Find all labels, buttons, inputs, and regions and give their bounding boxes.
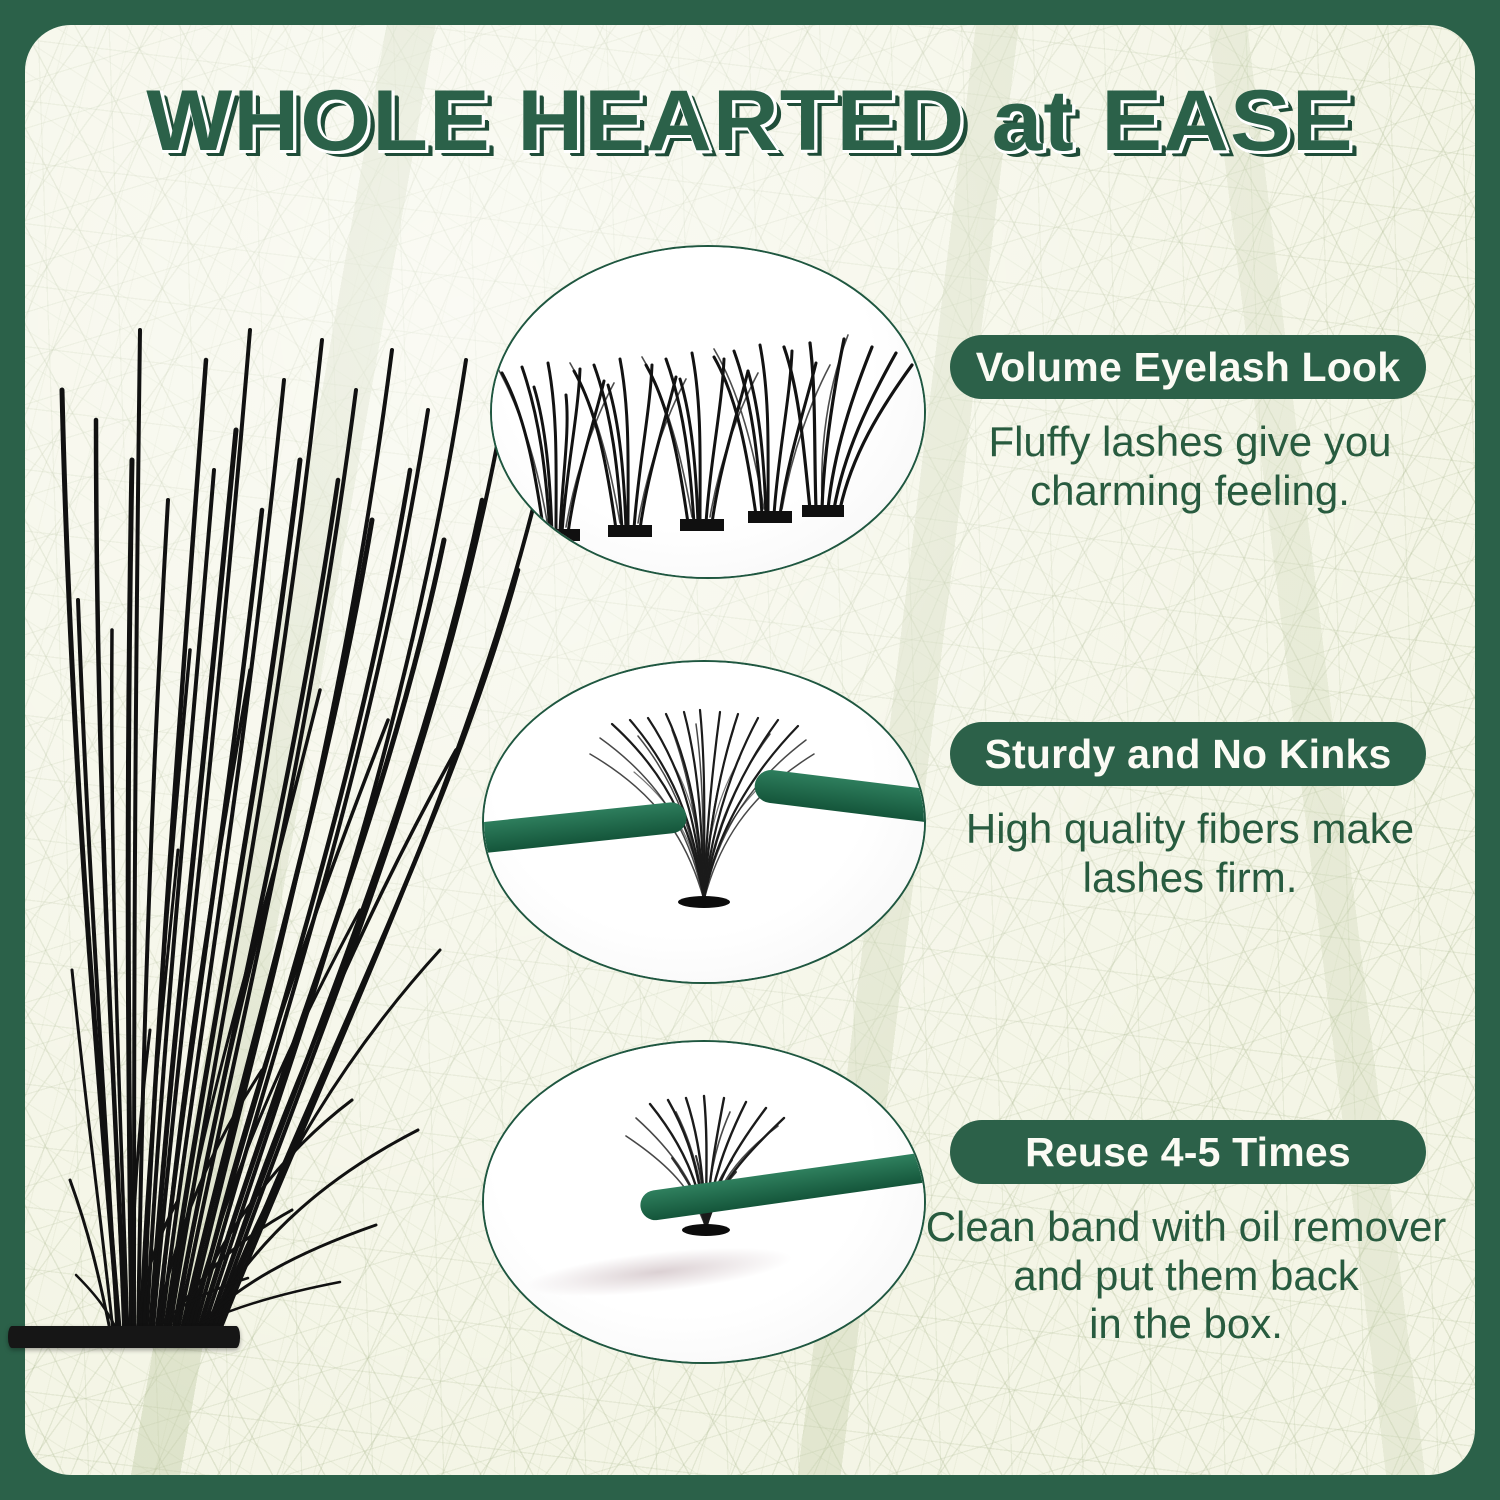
feature-badge-2: Sturdy and No Kinks [950, 722, 1426, 786]
feature-description-1: Fluffy lashes give you charming feeling. [940, 418, 1440, 515]
lash-band-base [8, 1326, 240, 1348]
large-lash-fan-photo [0, 270, 560, 1370]
lash-cluster-in-tweezers-photo [482, 660, 926, 984]
feature-description-2: High quality fibers make lashes firm. [940, 805, 1440, 902]
infographic-root: WHOLE HEARTED at EASE [0, 0, 1500, 1500]
feature-badge-3: Reuse 4-5 Times [950, 1120, 1426, 1184]
feature-description-3: Clean band with oil remover and put them… [912, 1203, 1460, 1349]
page-title: WHOLE HEARTED at EASE [0, 72, 1500, 171]
lash-cluster-closeup-photo [490, 245, 926, 579]
lash-cluster-on-tweezer-photo [482, 1040, 926, 1364]
lash-clusters-art [492, 247, 924, 577]
feature-badge-1: Volume Eyelash Look [950, 335, 1426, 399]
